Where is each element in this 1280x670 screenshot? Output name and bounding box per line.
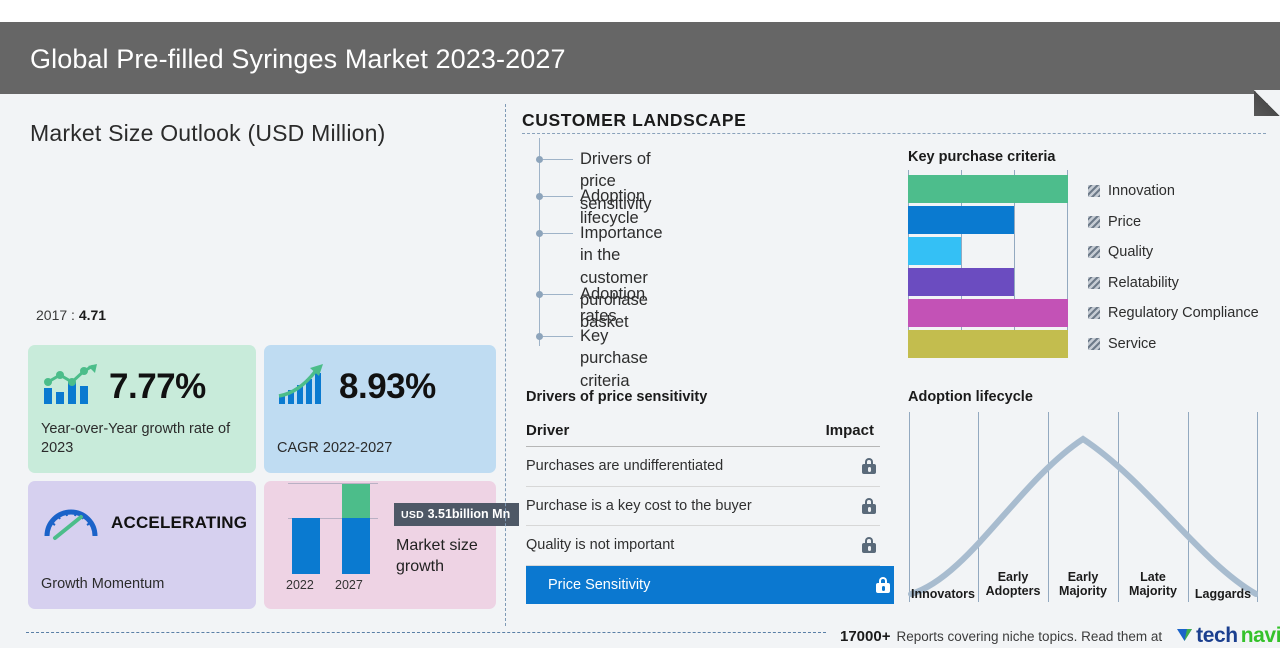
bar-service (908, 330, 1068, 358)
legend-swatch-icon (1088, 246, 1100, 258)
customer-landscape-label: Adoption rates (580, 283, 645, 328)
bullet-dot-icon (536, 193, 543, 200)
technavio-arrow-icon (1176, 625, 1193, 647)
kpi-momentum-caption: Growth Momentum (41, 575, 164, 595)
historic-year-label: 2017 : (36, 307, 75, 323)
bar-2027-base (342, 518, 370, 574)
kpi-yoy-value: 7.77% (109, 367, 206, 407)
bar-regulatory-compliance (908, 299, 1068, 327)
key-purchase-criteria-title: Key purchase criteria (908, 149, 1056, 165)
technavio-logo[interactable]: tech navio ® (1176, 624, 1280, 648)
column-header-driver: Driver (526, 422, 569, 439)
legend-label: Relatability (1108, 275, 1179, 291)
key-purchase-criteria-legend: Innovation Price Quality Relatability Re… (1088, 176, 1259, 359)
bar-2022 (292, 518, 320, 574)
legend-item-regulatory-compliance: Regulatory Compliance (1088, 298, 1259, 329)
table-row[interactable]: Quality is not important (526, 526, 880, 566)
legend-label: Quality (1108, 244, 1153, 260)
footer: 17000+ Reports covering niche topics. Re… (840, 624, 1280, 648)
historic-year-value: 2017 : 4.71 (36, 307, 106, 323)
kpi-card-cagr: 8.93% CAGR 2022-2027 (264, 345, 496, 473)
bar-chart-up-icon (41, 362, 99, 411)
legend-item-service: Service (1088, 329, 1259, 360)
x-label-early-majority: Early Majority (1048, 570, 1118, 599)
legend-label: Service (1108, 336, 1156, 352)
bullet-stem (543, 336, 573, 337)
lock-icon (862, 458, 876, 474)
legend-swatch-icon (1088, 185, 1100, 197)
footer-report-count: 17000+ (840, 628, 890, 645)
lock-icon (862, 537, 876, 553)
bar-2027-growth (342, 484, 370, 518)
bar-quality (908, 237, 961, 265)
driver-name: Price Sensitivity (548, 577, 650, 593)
bullet-dot-icon (536, 156, 543, 163)
kpi-cagr-value: 8.93% (339, 367, 436, 407)
legend-swatch-icon (1088, 277, 1100, 289)
x-label-early-adopters: Early Adopters (978, 570, 1048, 599)
customer-landscape-label: Key purchase criteria (580, 325, 648, 392)
kpi-card-growth-momentum: ACCELERATING Growth Momentum (28, 481, 256, 609)
table-row-highlighted-price-sensitivity[interactable]: Price Sensitivity (526, 566, 894, 604)
bullet-dot-icon (536, 333, 543, 340)
bar-innovation (908, 175, 1068, 203)
kpi-card-yoy-growth: 7.77% Year-over-Year growth rate of 2023 (28, 345, 256, 473)
market-size-value-badge: USD 3.51billion Mn (394, 503, 519, 526)
customer-landscape-title: CUSTOMER LANDSCAPE (522, 110, 746, 131)
driver-name: Purchases are undifferentiated (526, 458, 723, 474)
legend-swatch-icon (1088, 307, 1100, 319)
kpi-cagr-row: 8.93% (264, 345, 496, 411)
market-size-growth-label: Market size growth (396, 536, 496, 578)
table-header-row: Driver Impact (526, 422, 880, 447)
kpi-cagr-caption: CAGR 2022-2027 (277, 439, 392, 459)
bar-track-price (908, 206, 1068, 234)
bar-relatability (908, 268, 1014, 296)
bar-track-innovation (908, 175, 1068, 203)
bar-track-relatability (908, 268, 1068, 296)
drivers-table-title: Drivers of price sensitivity (526, 389, 707, 405)
bullet-stem (543, 294, 573, 295)
kpi-momentum-value: ACCELERATING (111, 513, 247, 533)
market-size-outlook-title: Market Size Outlook (USD Million) (30, 120, 386, 147)
drivers-table: Driver Impact Purchases are undifferenti… (526, 422, 880, 604)
x-label-innovators: Innovators (908, 587, 978, 601)
bullet-stem (543, 196, 573, 197)
column-header-impact: Impact (826, 422, 874, 439)
legend-item-relatability: Relatability (1088, 268, 1259, 299)
kpi-yoy-row: 7.77% (28, 345, 256, 411)
driver-name: Quality is not important (526, 537, 674, 553)
table-row[interactable]: Purchases are undifferentiated (526, 447, 880, 487)
footer-text: Reports covering niche topics. Read them… (896, 629, 1162, 644)
bullet-stem (543, 159, 573, 160)
legend-label: Regulatory Compliance (1108, 305, 1259, 321)
adoption-lifecycle-title: Adoption lifecycle (908, 389, 1033, 405)
x-label-2022: 2022 (286, 578, 314, 592)
x-label-late-majority: Late Majority (1118, 570, 1188, 599)
customer-landscape-spine (539, 138, 540, 346)
customer-landscape-underline (522, 133, 1266, 134)
x-label-2027: 2027 (335, 578, 363, 592)
growth-arrow-icon (277, 362, 329, 411)
market-size-currency: USD (401, 509, 424, 521)
lock-icon (876, 577, 890, 593)
market-size-amount: 3.51billion Mn (428, 507, 511, 521)
bullet-dot-icon (536, 291, 543, 298)
lock-icon (862, 498, 876, 514)
legend-item-price: Price (1088, 207, 1259, 238)
vertical-dashed-divider (505, 104, 506, 626)
kpi-yoy-caption: Year-over-Year growth rate of 2023 (41, 420, 256, 459)
bullet-stem (543, 233, 573, 234)
legend-swatch-icon (1088, 216, 1100, 228)
kpi-card-market-size-growth: 2022 2027 USD 3.51billion Mn Market size… (264, 481, 496, 609)
infographic-page: Global Pre-filled Syringes Market 2023-2… (0, 0, 1280, 670)
key-purchase-criteria-chart (908, 170, 1068, 352)
table-row[interactable]: Purchase is a key cost to the buyer (526, 487, 880, 527)
legend-item-innovation: Innovation (1088, 176, 1259, 207)
bar-price (908, 206, 1014, 234)
historic-year-number: 4.71 (79, 307, 106, 323)
logo-text-navio: navio (1241, 624, 1280, 648)
kpi-momentum-row: ACCELERATING (28, 481, 256, 547)
bar-track-quality (908, 237, 1068, 265)
bar-track-regulatory (908, 299, 1068, 327)
footer-dashed-divider (26, 632, 826, 633)
legend-item-quality: Quality (1088, 237, 1259, 268)
market-size-growth-chart: 2022 2027 (280, 497, 390, 592)
legend-label: Innovation (1108, 183, 1175, 199)
bar-track-service (908, 330, 1068, 358)
legend-label: Price (1108, 214, 1141, 230)
driver-name: Purchase is a key cost to the buyer (526, 498, 752, 514)
bullet-dot-icon (536, 230, 543, 237)
x-label-laggards: Laggards (1188, 587, 1258, 601)
speedometer-icon (41, 498, 101, 547)
header-fold-corner (1254, 90, 1280, 116)
legend-swatch-icon (1088, 338, 1100, 350)
page-title: Global Pre-filled Syringes Market 2023-2… (30, 44, 566, 75)
logo-text-tech: tech (1196, 624, 1238, 648)
